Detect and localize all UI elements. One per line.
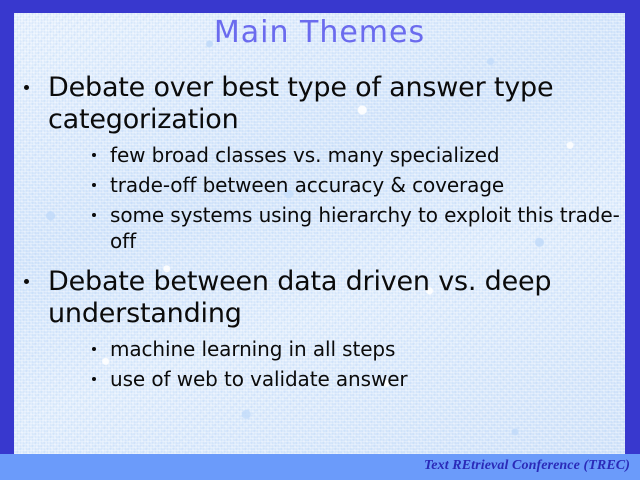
bullet-level2: few broad classes vs. many specialized	[88, 142, 625, 168]
bullet-dot-icon	[24, 85, 29, 90]
bullet-dot-icon	[92, 377, 96, 381]
bullet-level2: some systems using hierarchy to exploit …	[88, 202, 625, 254]
bullet-level1: Debate between data driven vs. deep unde…	[18, 266, 625, 330]
slide-body: Debate over best type of answer type cat…	[14, 72, 625, 454]
bullet-level1-text: Debate between data driven vs. deep unde…	[48, 266, 551, 329]
bullet-dot-icon	[92, 213, 96, 217]
bullet-level1-text: Debate over best type of answer type cat…	[48, 72, 553, 135]
sub-bullet-list: machine learning in all steps use of web…	[14, 336, 625, 392]
slide-footer-band: Text REtrieval Conference (TREC)	[0, 454, 640, 480]
bullet-level2: machine learning in all steps	[88, 336, 625, 362]
bullet-level2: use of web to validate answer	[88, 366, 625, 392]
bullet-level2-text: trade-off between accuracy & coverage	[110, 173, 504, 197]
sub-bullet-list: few broad classes vs. many specialized t…	[14, 142, 625, 254]
presentation-slide: Main Themes Debate over best type of ans…	[0, 0, 640, 480]
bullet-level2-text: some systems using hierarchy to exploit …	[110, 203, 620, 253]
bullet-dot-icon	[92, 183, 96, 187]
bullet-dot-icon	[92, 153, 96, 157]
bullet-dot-icon	[24, 279, 29, 284]
slide-title: Main Themes	[14, 16, 625, 50]
bullet-dot-icon	[92, 347, 96, 351]
bullet-level2-text: few broad classes vs. many specialized	[110, 143, 499, 167]
footer-conference-label: Text REtrieval Conference (TREC)	[424, 458, 630, 474]
bullet-level2-text: machine learning in all steps	[110, 337, 395, 361]
bullet-level2-text: use of web to validate answer	[110, 367, 408, 391]
bullet-level2: trade-off between accuracy & coverage	[88, 172, 625, 198]
bullet-level1: Debate over best type of answer type cat…	[18, 72, 625, 136]
